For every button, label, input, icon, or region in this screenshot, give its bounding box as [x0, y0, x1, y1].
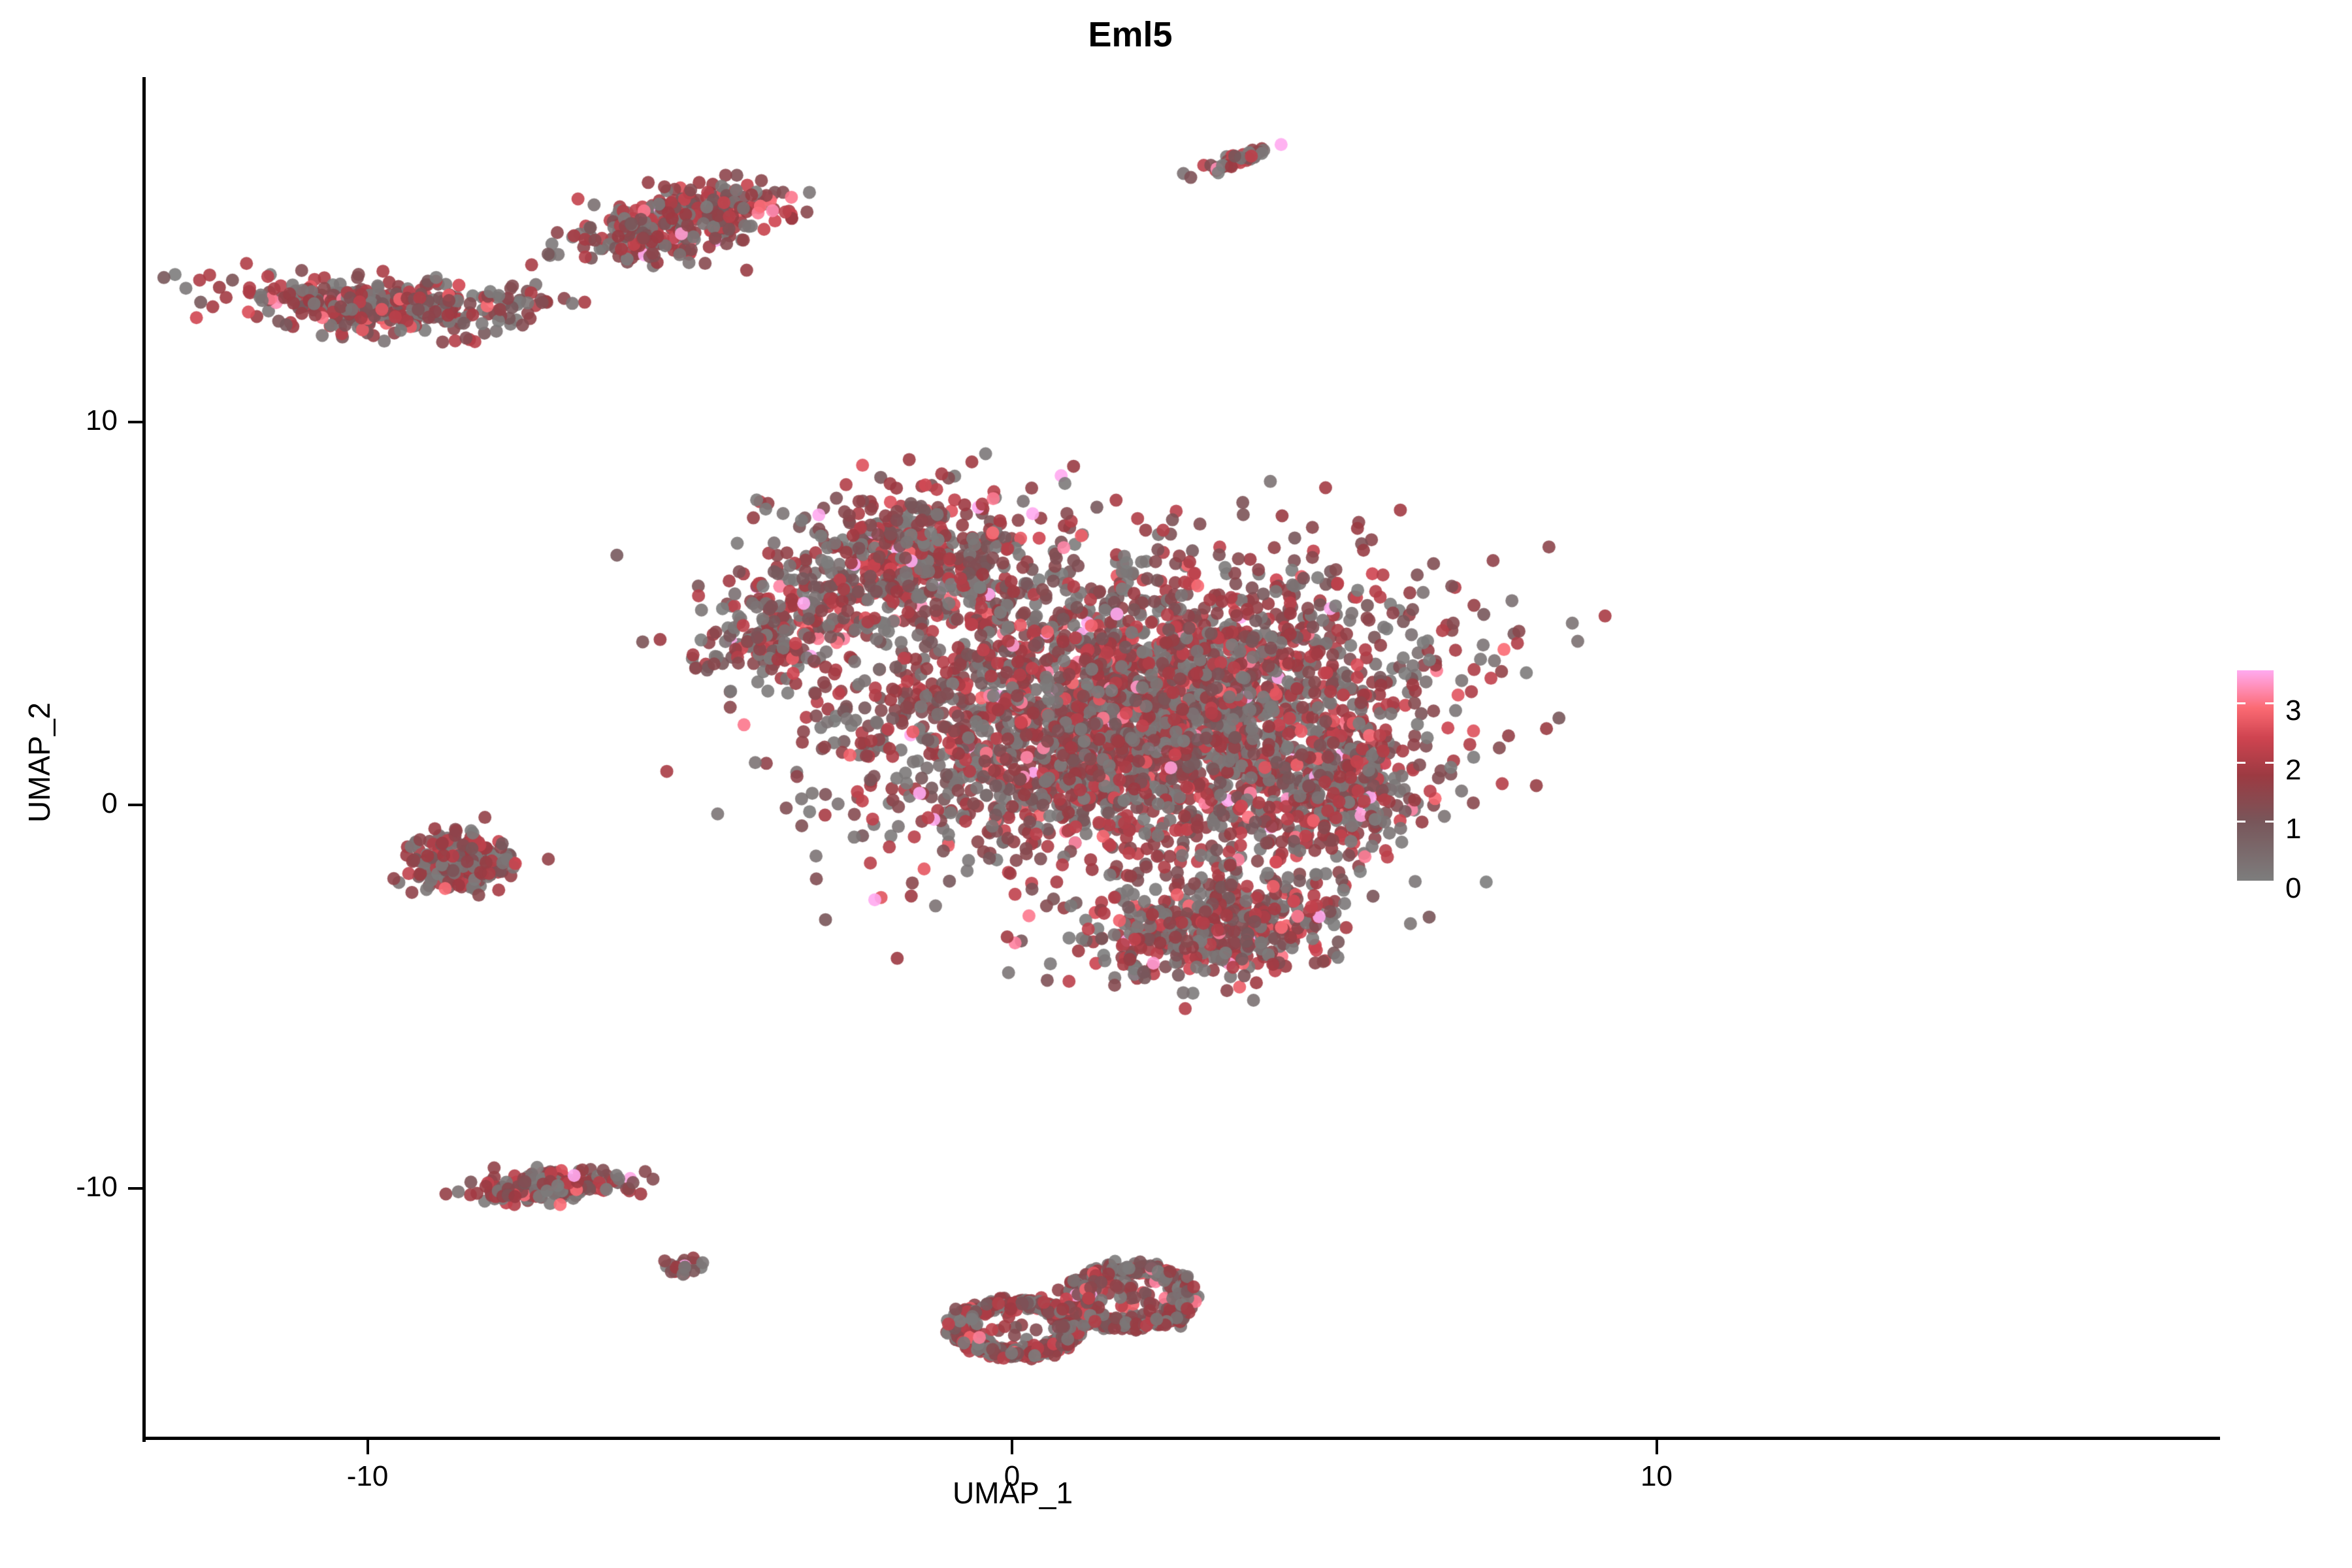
y-tick-mark [128, 1187, 142, 1190]
y-tick-label: 10 [33, 406, 118, 435]
plot-panel [144, 78, 1656, 1439]
legend-tick-label: 1 [2285, 815, 2301, 843]
x-axis-line [142, 1437, 2220, 1440]
legend-tick-mark [2237, 762, 2246, 764]
y-tick-label: -10 [33, 1173, 118, 1201]
x-tick-mark [1656, 1440, 1658, 1454]
x-axis-title: UMAP_1 [797, 1475, 1228, 1511]
plot-title: Eml5 [0, 14, 2261, 55]
x-tick-label: -10 [302, 1462, 433, 1491]
x-tick-mark [367, 1440, 369, 1454]
legend-tick-label: 2 [2285, 756, 2301, 785]
legend-tick-mark [2237, 702, 2246, 704]
legend-tick-label: 0 [2285, 874, 2301, 903]
legend-tick-label: 3 [2285, 696, 2301, 725]
x-tick-mark [1011, 1440, 1013, 1454]
y-tick-mark [128, 804, 142, 806]
legend-tick-mark [2237, 821, 2246, 823]
legend-tick-mark [2265, 702, 2274, 704]
legend-tick-mark [2265, 821, 2274, 823]
y-axis-line [142, 77, 146, 1442]
y-tick-mark [128, 421, 142, 423]
y-axis-title: UMAP_2 [22, 547, 57, 978]
legend-tick-mark [2265, 762, 2274, 764]
color-legend [2237, 670, 2274, 881]
scatter-points-canvas [144, 78, 1656, 1439]
x-tick-label: 10 [1592, 1462, 1722, 1491]
figure-root: Eml5 100-10 -10010 UMAP_1 UMAP_2 3210 [0, 0, 2352, 1568]
